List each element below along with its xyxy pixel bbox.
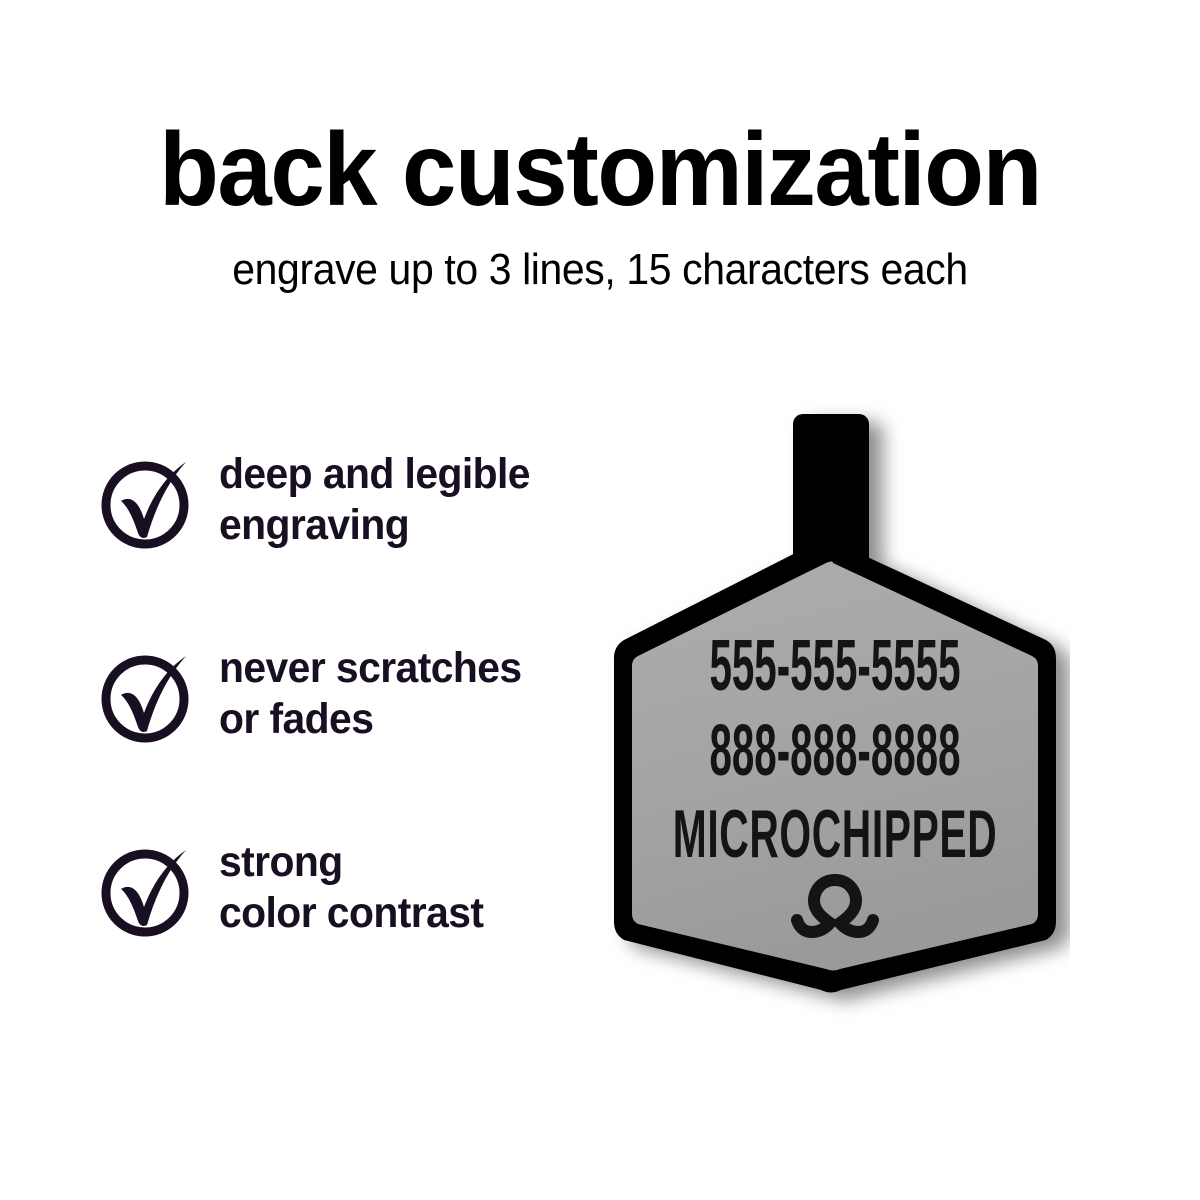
poster-canvas: back customization engrave up to 3 lines…	[0, 0, 1200, 1200]
page-title: back customization	[36, 118, 1164, 222]
engraved-line-2: 888-888-8888	[709, 711, 960, 791]
feature-list: deep and legible engraving never scratch…	[95, 443, 625, 941]
feature-item-never-scratches-or-fades: never scratches or fades	[95, 637, 625, 747]
check-circle-icon	[95, 449, 203, 553]
engraved-line-1: 555-555-5555	[709, 626, 960, 706]
check-circle-icon	[95, 837, 203, 941]
engraved-line-3: MICROCHIPPED	[673, 795, 997, 871]
pet-tag-graphic: 555-555-5555 888-888-8888 MICROCHIPPED	[600, 400, 1070, 1020]
feature-item-deep-and-legible-engraving: deep and legible engraving	[95, 443, 625, 553]
page-subtitle: engrave up to 3 lines, 15 characters eac…	[42, 248, 1158, 292]
feature-item-label: strong color contrast	[219, 831, 483, 939]
feature-item-label: never scratches or fades	[219, 637, 522, 745]
feature-item-strong-color-contrast: strong color contrast	[95, 831, 625, 941]
feature-item-label: deep and legible engraving	[219, 443, 530, 551]
check-circle-icon	[95, 643, 203, 747]
header-block: back customization engrave up to 3 lines…	[0, 118, 1200, 292]
